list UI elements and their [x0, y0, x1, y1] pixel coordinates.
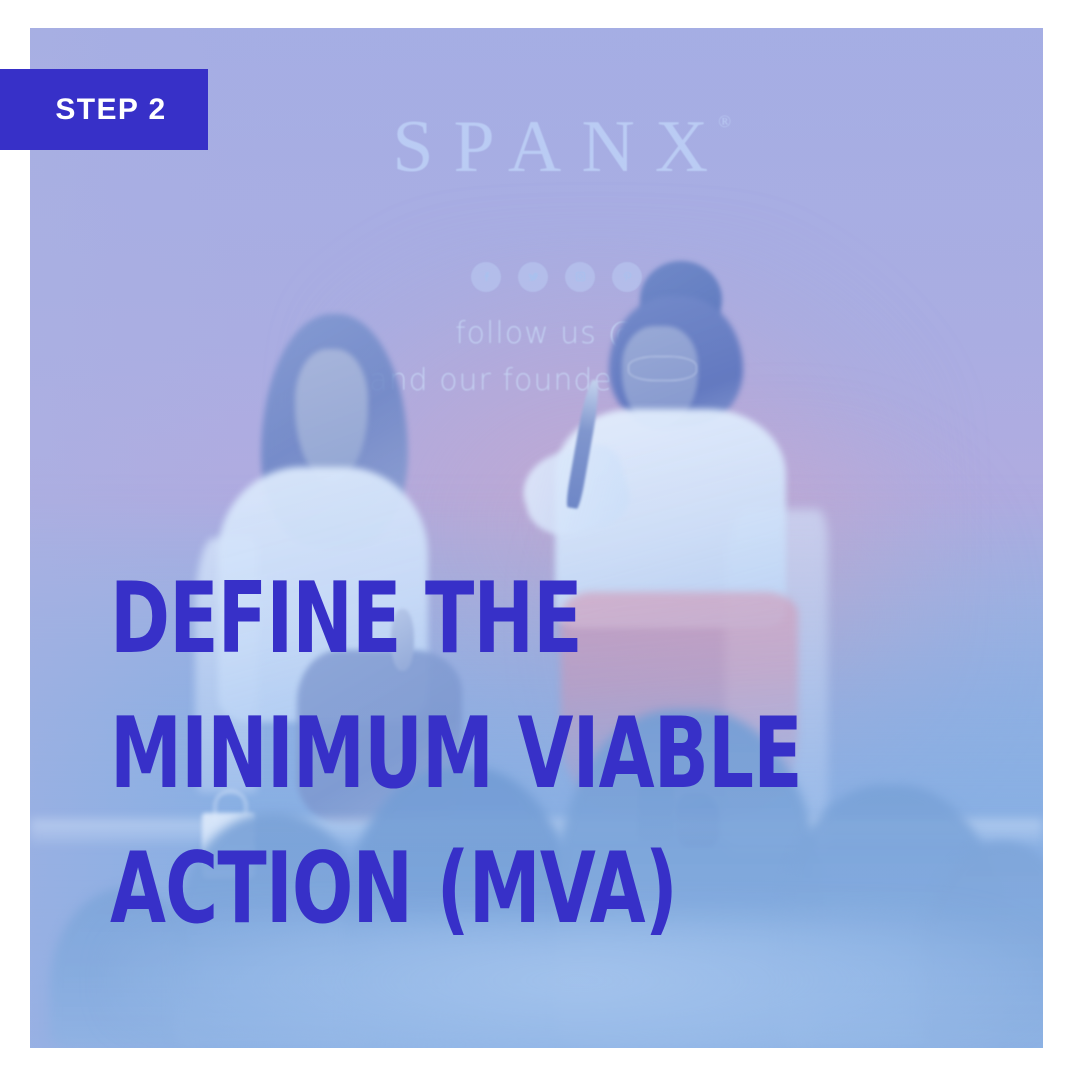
- headline-line-3: ACTION (MVA): [110, 822, 733, 957]
- slide-canvas: SPANX® follow us @S and our founde ke: [0, 0, 1080, 1080]
- step-badge: STEP 2: [0, 69, 208, 150]
- headline-line-2: MINIMUM VIABLE: [110, 687, 733, 822]
- step-badge-label: STEP 2: [41, 95, 166, 125]
- headline-line-1: DEFINE THE: [110, 552, 733, 687]
- page-title: DEFINE THE MINIMUM VIABLE ACTION (MVA): [110, 552, 870, 957]
